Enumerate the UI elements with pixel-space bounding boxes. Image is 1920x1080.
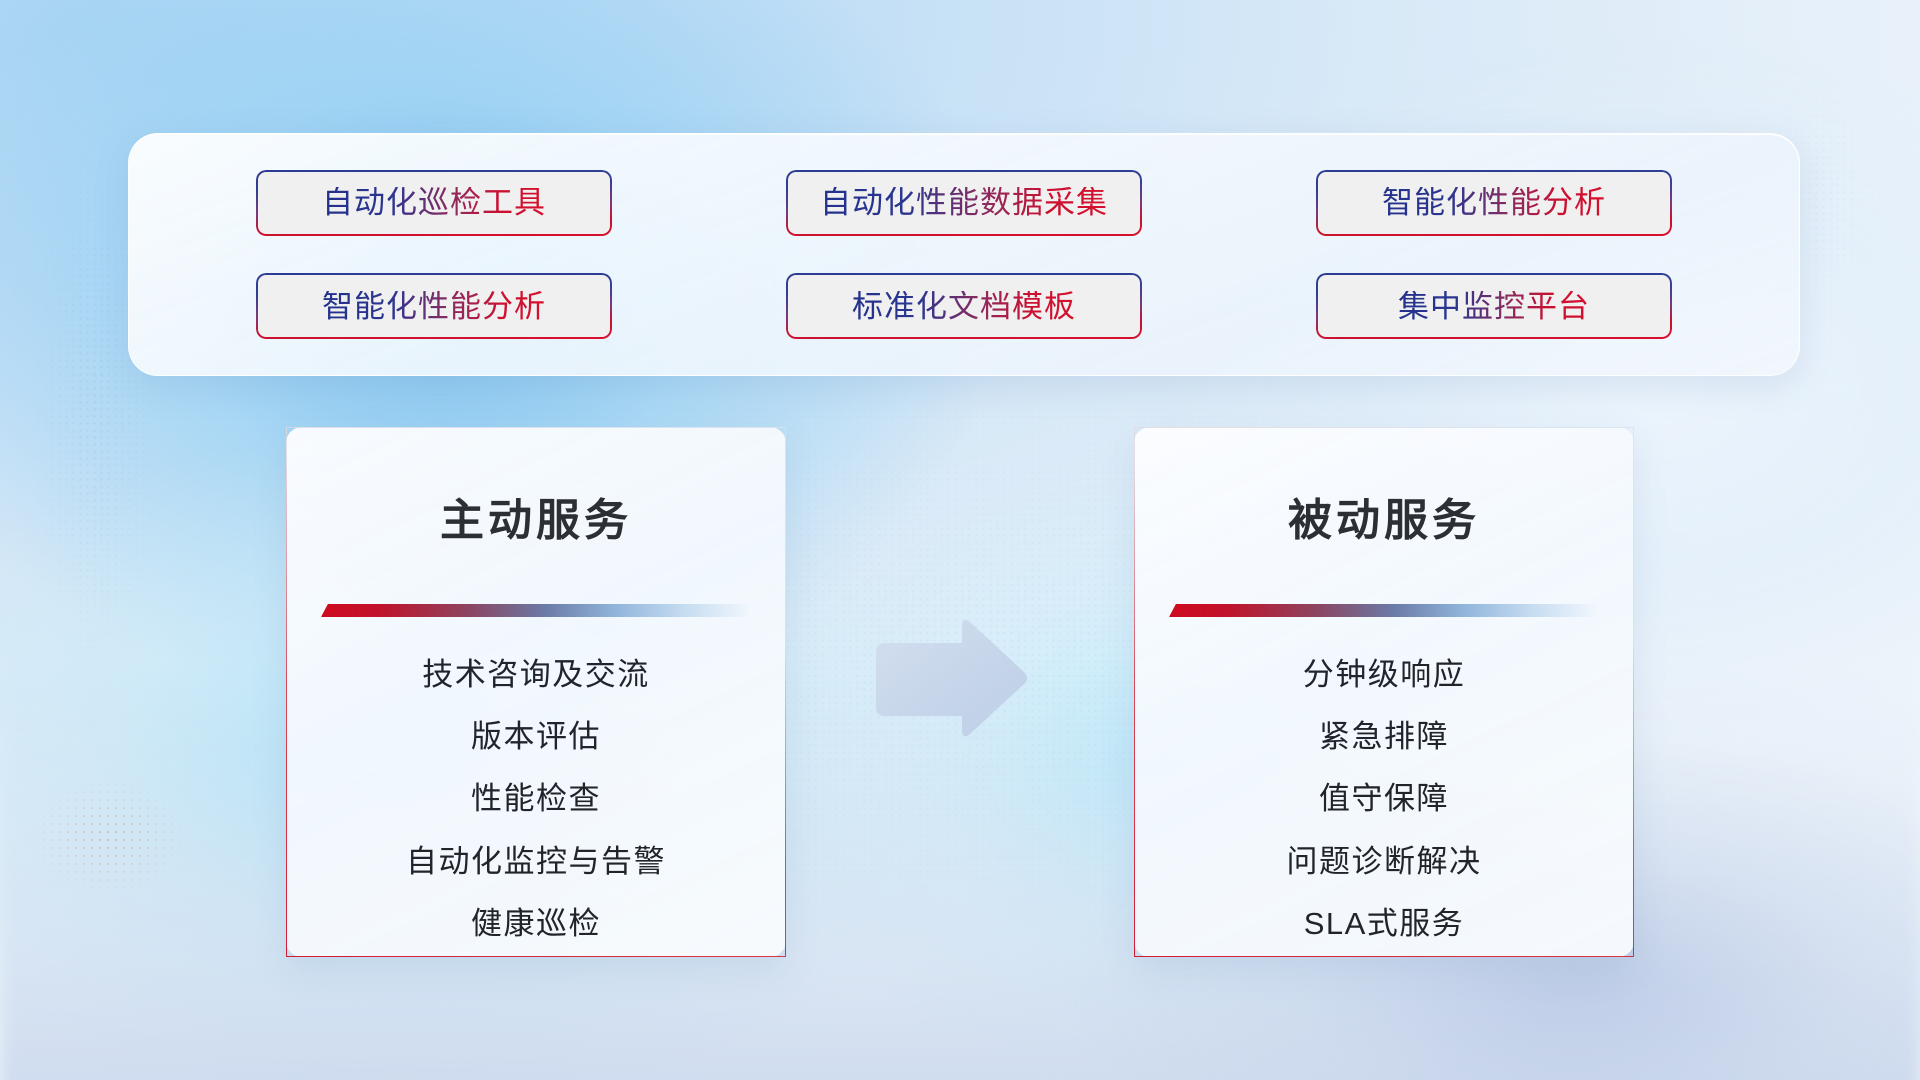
service-card-proactive-divider [321, 604, 751, 620]
capability-pill-6[interactable]: 集中监控平台 [1316, 273, 1672, 339]
capability-pill-1[interactable]: 自动化巡检工具 [256, 170, 612, 236]
capability-pill-grid: 自动化巡检工具 自动化性能数据采集 智能化性能分析 智能化性能分析 标准化文档模… [129, 134, 1799, 375]
capability-pill-2[interactable]: 自动化性能数据采集 [786, 170, 1142, 236]
service-card-proactive-title: 主动服务 [440, 493, 632, 548]
service-card-reactive-inner: 被动服务 分钟级响应 紧急排障 值守保障 问题诊断解决 SLA式服务 [1135, 428, 1633, 956]
list-item: SLA式服务 [1304, 905, 1465, 942]
capability-pill-4[interactable]: 智能化性能分析 [256, 273, 612, 339]
service-card-reactive-divider [1169, 604, 1599, 620]
service-card-proactive-inner: 主动服务 技术咨询及交流 版本评估 性能检查 自动化监控与告警 健康巡检 [287, 428, 785, 956]
capability-pill-1-label: 自动化巡检工具 [322, 187, 546, 218]
service-card-reactive-title: 被动服务 [1288, 493, 1480, 548]
list-item: 自动化监控与告警 [406, 843, 666, 880]
list-item: 性能检查 [471, 780, 601, 817]
capability-pill-5[interactable]: 标准化文档模板 [786, 273, 1142, 339]
service-card-proactive: 主动服务 技术咨询及交流 版本评估 性能检查 自动化监控与告警 健康巡检 [286, 427, 786, 957]
capability-panel: 自动化巡检工具 自动化性能数据采集 智能化性能分析 智能化性能分析 标准化文档模… [128, 133, 1800, 376]
service-card-reactive-list: 分钟级响应 紧急排障 值守保障 问题诊断解决 SLA式服务 [1135, 656, 1633, 942]
gradient-rule-icon [1169, 604, 1599, 617]
service-card-reactive: 被动服务 分钟级响应 紧急排障 值守保障 问题诊断解决 SLA式服务 [1134, 427, 1634, 957]
list-item: 版本评估 [471, 718, 601, 755]
list-item: 紧急排障 [1319, 718, 1449, 755]
list-item: 问题诊断解决 [1287, 843, 1482, 880]
list-item: 值守保障 [1319, 780, 1449, 817]
gradient-rule-icon [321, 604, 751, 617]
capability-pill-5-label: 标准化文档模板 [852, 291, 1076, 322]
service-card-proactive-list: 技术咨询及交流 版本评估 性能检查 自动化监控与告警 健康巡检 [287, 656, 785, 942]
list-item: 分钟级响应 [1303, 656, 1466, 693]
capability-pill-6-label: 集中监控平台 [1398, 291, 1590, 322]
capability-pill-3-label: 智能化性能分析 [1382, 187, 1606, 218]
list-item: 技术咨询及交流 [422, 656, 650, 693]
capability-pill-2-label: 自动化性能数据采集 [820, 187, 1108, 218]
list-item: 健康巡检 [471, 905, 601, 942]
arrow-right-icon [866, 614, 1034, 746]
capability-pill-4-label: 智能化性能分析 [322, 291, 546, 322]
capability-pill-3[interactable]: 智能化性能分析 [1316, 170, 1672, 236]
